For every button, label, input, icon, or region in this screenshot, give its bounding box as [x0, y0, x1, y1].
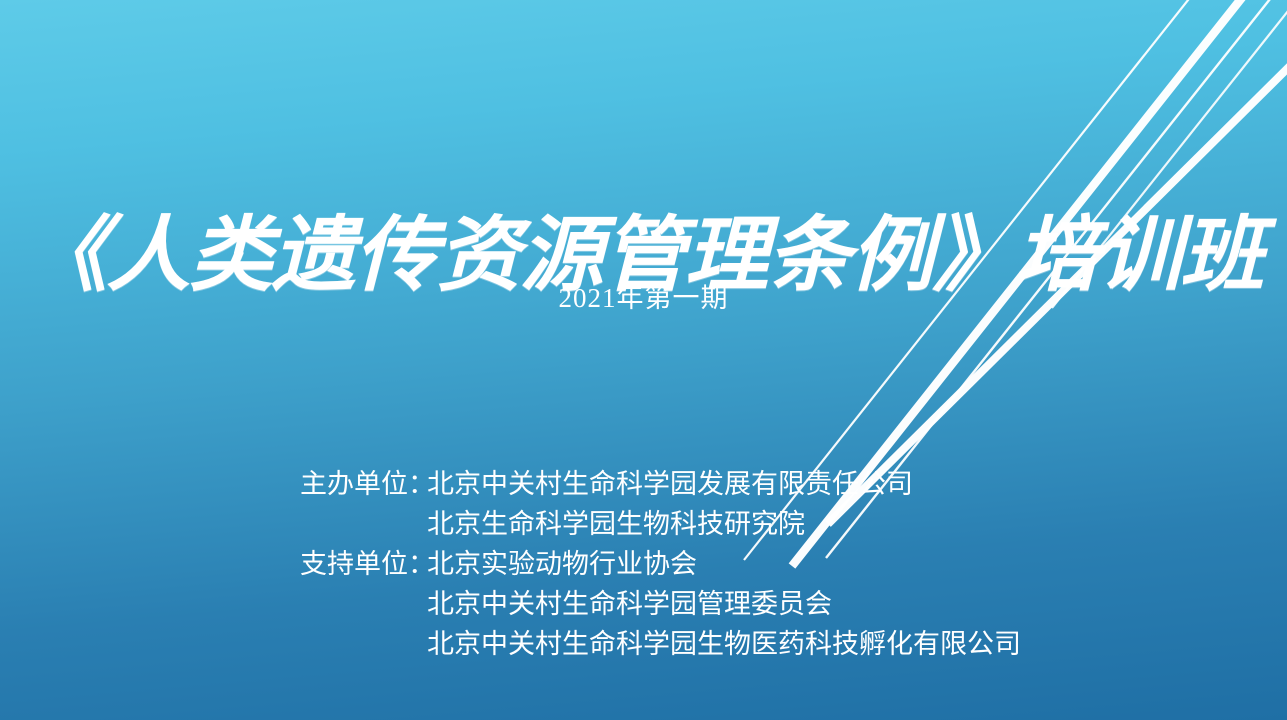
- slide-subtitle: 2021年第一期: [559, 276, 729, 315]
- support-line-3: 北京中关村生命科学园生物医药科技孵化有限公司: [300, 624, 1021, 664]
- organizations-block: 主办单位：北京中关村生命科学园发展有限责任公司 北京生命科学园生物科技研究院 支…: [300, 464, 1021, 664]
- host-unit-2: 北京生命科学园生物科技研究院: [427, 509, 805, 539]
- support-line-2: 北京中关村生命科学园管理委员会: [300, 584, 1021, 624]
- host-unit-1: 北京中关村生命科学园发展有限责任公司: [427, 469, 913, 499]
- host-line-1: 主办单位：北京中关村生命科学园发展有限责任公司: [300, 464, 1021, 504]
- support-unit-2: 北京中关村生命科学园管理委员会: [427, 589, 832, 619]
- host-line-2: 北京生命科学园生物科技研究院: [300, 504, 1021, 544]
- support-label: 支持单位：: [300, 544, 427, 584]
- subtitle-container: 2021年第一期: [0, 276, 1287, 315]
- support-unit-3: 北京中关村生命科学园生物医药科技孵化有限公司: [427, 629, 1021, 659]
- support-line-1: 支持单位：北京实验动物行业协会: [300, 544, 1021, 584]
- presentation-slide: 《人类遗传资源管理条例》培训班 2021年第一期 主办单位：北京中关村生命科学园…: [0, 0, 1287, 720]
- title-container: 《人类遗传资源管理条例》培训班: [0, 158, 1287, 355]
- host-label: 主办单位：: [300, 464, 427, 504]
- support-unit-1: 北京实验动物行业协会: [427, 549, 697, 579]
